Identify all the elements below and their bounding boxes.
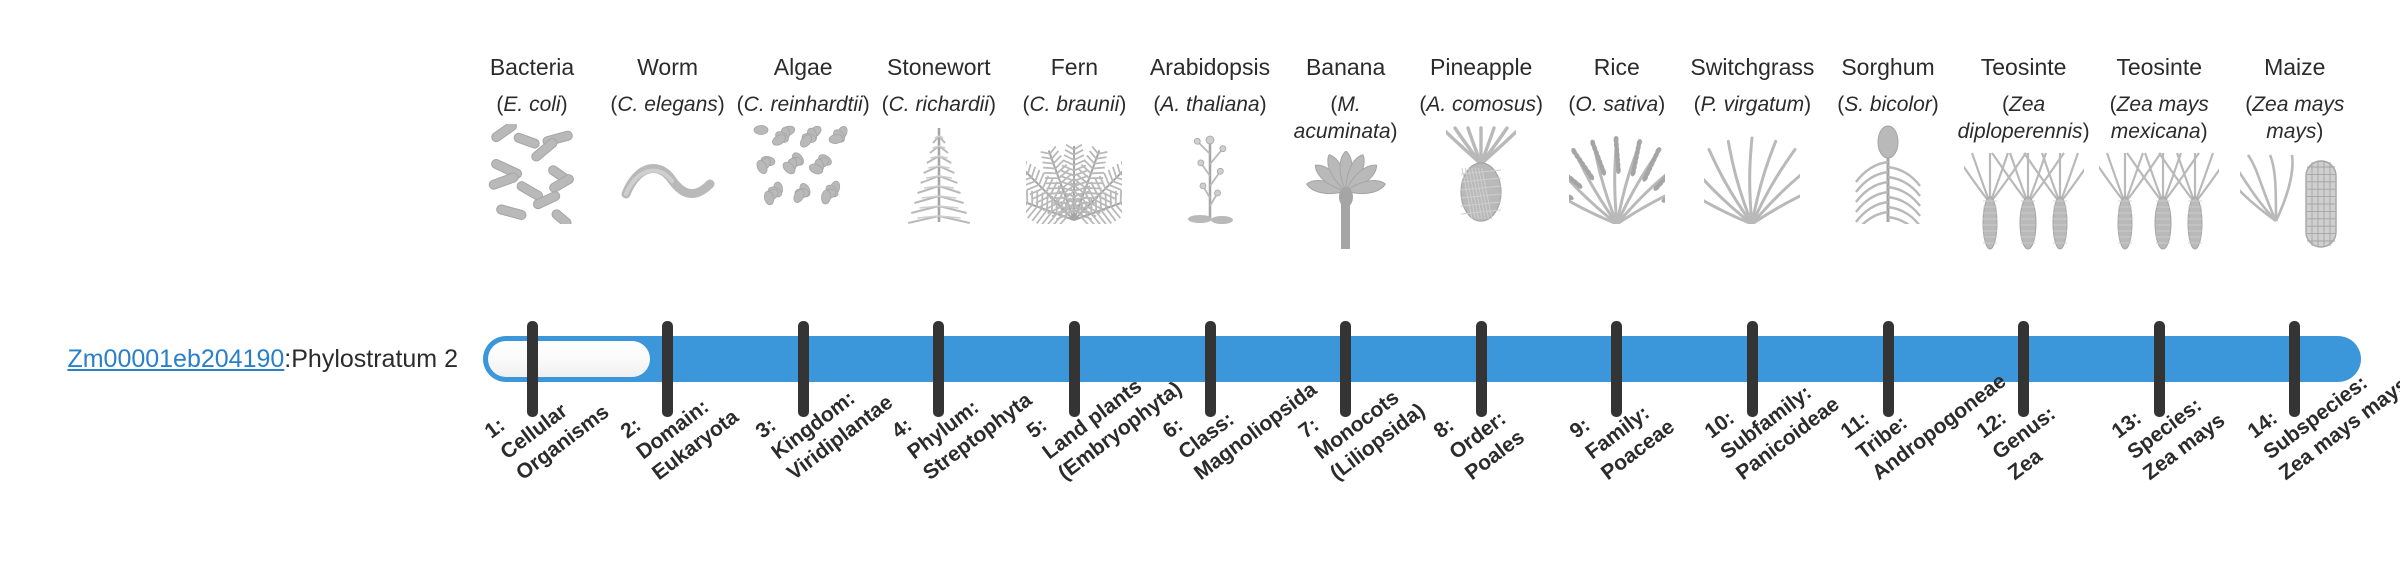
species-column-teosinte-12: Teosinte(Zea mays mexicana) <box>2091 52 2227 251</box>
phylostratum-label-13: 13:Species:Zea mays <box>2107 366 2230 486</box>
species-column-sorghum-10: Sorghum(S. bicolor) <box>1820 52 1956 224</box>
latin-paren-close: ) <box>989 93 996 116</box>
arabidopsis-icon <box>1142 124 1278 224</box>
latin-paren-close: ) <box>2083 120 2090 143</box>
species-latin-name: (M. acuminata) <box>1278 91 1414 145</box>
species-common-name: Stonewort <box>871 52 1007 82</box>
latin-binomial: C. richardii <box>889 93 989 116</box>
teosinte-mexicana-icon <box>2091 151 2227 251</box>
pineapple-icon <box>1413 124 1549 224</box>
species-column-banana-6: Banana(M. acuminata) <box>1278 52 1414 251</box>
latin-binomial: A. thaliana <box>1160 93 1259 116</box>
species-common-name: Fern <box>1006 52 1142 82</box>
latin-paren-close: ) <box>1119 93 1126 116</box>
latin-paren-close: ) <box>1658 93 1665 116</box>
latin-paren-open: ( <box>2110 93 2117 116</box>
species-latin-name: (Zea mays mexicana) <box>2091 91 2227 145</box>
gene-phylostratum-label: Zm00001eb204190: Phylostratum 2 <box>0 336 458 382</box>
species-latin-name: (C. braunii) <box>1006 91 1142 118</box>
phylostratum-label-8: 8:Order:Poales <box>1429 383 1530 486</box>
gene-id-link[interactable]: Zm00001eb204190 <box>67 345 284 374</box>
latin-paren-close: ) <box>2316 120 2323 143</box>
latin-paren-close: ) <box>2201 120 2208 143</box>
teosinte-diploperennis-icon <box>1956 151 2092 251</box>
species-common-name: Algae <box>735 52 871 82</box>
maize-icon <box>2227 151 2363 251</box>
latin-paren-close: ) <box>1804 93 1811 116</box>
latin-paren-open: ( <box>882 93 889 116</box>
latin-binomial: P. virgatum <box>1701 93 1805 116</box>
latin-paren-close: ) <box>561 93 568 116</box>
latin-paren-close: ) <box>1391 120 1398 143</box>
banana-icon <box>1278 151 1414 251</box>
stonewort-icon <box>871 124 1007 224</box>
species-latin-name: (P. virgatum) <box>1684 91 1820 118</box>
latin-binomial: Zea mays mays <box>2252 93 2344 143</box>
latin-paren-close: ) <box>863 93 870 116</box>
algae-icon <box>735 124 871 224</box>
species-latin-name: (C. richardii) <box>871 91 1007 118</box>
species-common-name: Teosinte <box>1956 52 2092 82</box>
latin-paren-open: ( <box>2002 93 2009 116</box>
sorghum-icon <box>1820 124 1956 224</box>
fern-icon <box>1006 124 1142 224</box>
species-latin-name: (E. coli) <box>464 91 600 118</box>
gene-phylostratum-text: Phylostratum 2 <box>291 345 458 374</box>
species-column-teosinte-11: Teosinte(Zea diploperennis) <box>1956 52 2092 251</box>
latin-paren-close: ) <box>1260 93 1267 116</box>
latin-binomial: M. acuminata <box>1294 93 1391 143</box>
species-column-arabidopsis-5: Arabidopsis(A. thaliana) <box>1142 52 1278 224</box>
species-latin-name: (Zea diploperennis) <box>1956 91 2092 145</box>
latin-paren-close: ) <box>718 93 725 116</box>
species-column-maize-13: Maize(Zea mays mays) <box>2227 52 2363 251</box>
species-column-bacteria-0: Bacteria(E. coli) <box>464 52 600 224</box>
species-column-algae-2: Algae(C. reinhardtii) <box>735 52 871 224</box>
species-column-worm-1: Worm(C. elegans) <box>600 52 736 224</box>
latin-binomial: Zea diploperennis <box>1958 93 2083 143</box>
bacteria-icon <box>464 124 600 224</box>
species-column-pineapple-7: Pineapple(A. comosus) <box>1413 52 1549 224</box>
species-common-name: Worm <box>600 52 736 82</box>
latin-paren-close: ) <box>1932 93 1939 116</box>
species-latin-name: (Zea mays mays) <box>2227 91 2363 145</box>
species-column-switchgrass-9: Switchgrass(P. virgatum) <box>1684 52 1820 224</box>
latin-paren-open: ( <box>737 93 744 116</box>
latin-binomial: C. reinhardtii <box>744 93 863 116</box>
phylostratum-bar-track[interactable] <box>483 336 2361 382</box>
latin-binomial: C. elegans <box>617 93 717 116</box>
species-common-name: Rice <box>1549 52 1685 82</box>
species-column-rice-8: Rice(O. sativa) <box>1549 52 1685 224</box>
latin-binomial: S. bicolor <box>1844 93 1932 116</box>
latin-binomial: Zea mays mexicana <box>2111 93 2209 143</box>
species-common-name: Teosinte <box>2091 52 2227 82</box>
species-common-name: Arabidopsis <box>1142 52 1278 82</box>
worm-icon <box>600 124 736 224</box>
rice-icon <box>1549 124 1685 224</box>
phylostratum-label-9: 9:Family:Poaceae <box>1565 373 1680 487</box>
species-common-name: Sorghum <box>1820 52 1956 82</box>
latin-binomial: C. braunii <box>1029 93 1119 116</box>
latin-binomial: O. sativa <box>1575 93 1658 116</box>
species-column-stonewort-3: Stonewort(C. richardii) <box>871 52 1007 224</box>
species-latin-name: (O. sativa) <box>1549 91 1685 118</box>
latin-binomial: E. coli <box>503 93 560 116</box>
species-common-name: Bacteria <box>464 52 600 82</box>
latin-paren-close: ) <box>1536 93 1543 116</box>
species-latin-name: (S. bicolor) <box>1820 91 1956 118</box>
latin-paren-open: ( <box>1694 93 1701 116</box>
species-common-name: Banana <box>1278 52 1414 82</box>
species-common-name: Switchgrass <box>1684 52 1820 82</box>
species-latin-name: (C. elegans) <box>600 91 736 118</box>
species-latin-name: (C. reinhardtii) <box>735 91 871 118</box>
switchgrass-icon <box>1684 124 1820 224</box>
species-latin-name: (A. thaliana) <box>1142 91 1278 118</box>
species-latin-name: (A. comosus) <box>1413 91 1549 118</box>
species-common-name: Pineapple <box>1413 52 1549 82</box>
latin-binomial: A. comosus <box>1426 93 1536 116</box>
species-column-fern-4: Fern(C. braunii) <box>1006 52 1142 224</box>
species-common-name: Maize <box>2227 52 2363 82</box>
gene-label-separator: : <box>284 345 291 374</box>
